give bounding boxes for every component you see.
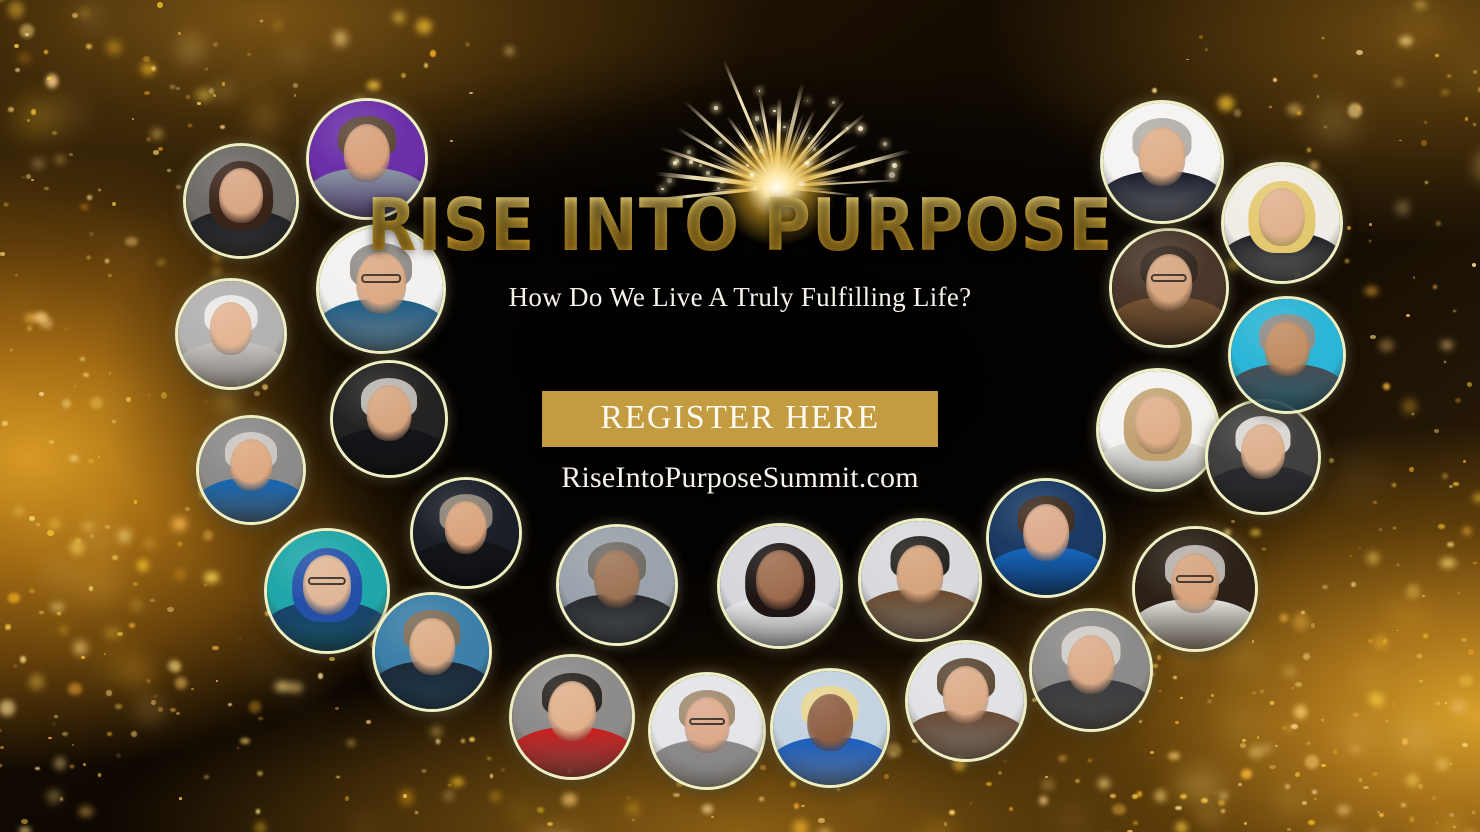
portrait-highlight [861,521,979,639]
portrait [375,595,489,709]
speaker-photo[interactable] [264,528,390,654]
portrait [908,643,1024,759]
portrait [651,675,763,787]
portrait-highlight [1032,611,1150,729]
portrait [720,526,840,646]
speaker-photo[interactable] [858,518,982,642]
portrait [1135,529,1255,649]
portrait [559,527,675,643]
speaker-photo[interactable] [1132,526,1258,652]
portrait-highlight [375,595,489,709]
portrait-highlight [413,480,519,586]
speaker-photo[interactable] [770,668,890,788]
portrait [1032,611,1150,729]
portrait [861,521,979,639]
portrait [512,657,632,777]
portrait-highlight [1135,529,1255,649]
speaker-photo[interactable] [372,592,492,712]
speaker-photo[interactable] [986,478,1106,598]
center-content: RISE INTO PURPOSE How Do We Live A Truly… [0,192,1480,495]
speaker-photo[interactable] [717,523,843,649]
portrait-highlight [720,526,840,646]
summit-url-link[interactable]: RiseIntoPurposeSummit.com [0,461,1480,495]
portrait-highlight [773,671,887,785]
portrait-highlight [559,527,675,643]
summit-poster: RISE INTO PURPOSE How Do We Live A Truly… [0,0,1480,832]
portrait-highlight [512,657,632,777]
portrait [413,480,519,586]
portrait [267,531,387,651]
speaker-photo[interactable] [556,524,678,646]
speaker-photo[interactable] [509,654,635,780]
portrait [989,481,1103,595]
page-title: RISE INTO PURPOSE [74,192,1406,260]
register-here-button[interactable]: REGISTER HERE [542,391,937,447]
portrait [773,671,887,785]
page-subtitle: How Do We Live A Truly Fulfilling Life? [0,282,1480,313]
portrait-highlight [267,531,387,651]
portrait-highlight [651,675,763,787]
portrait-highlight [989,481,1103,595]
speaker-photo[interactable] [648,672,766,790]
portrait-highlight [908,643,1024,759]
speaker-photo[interactable] [905,640,1027,762]
